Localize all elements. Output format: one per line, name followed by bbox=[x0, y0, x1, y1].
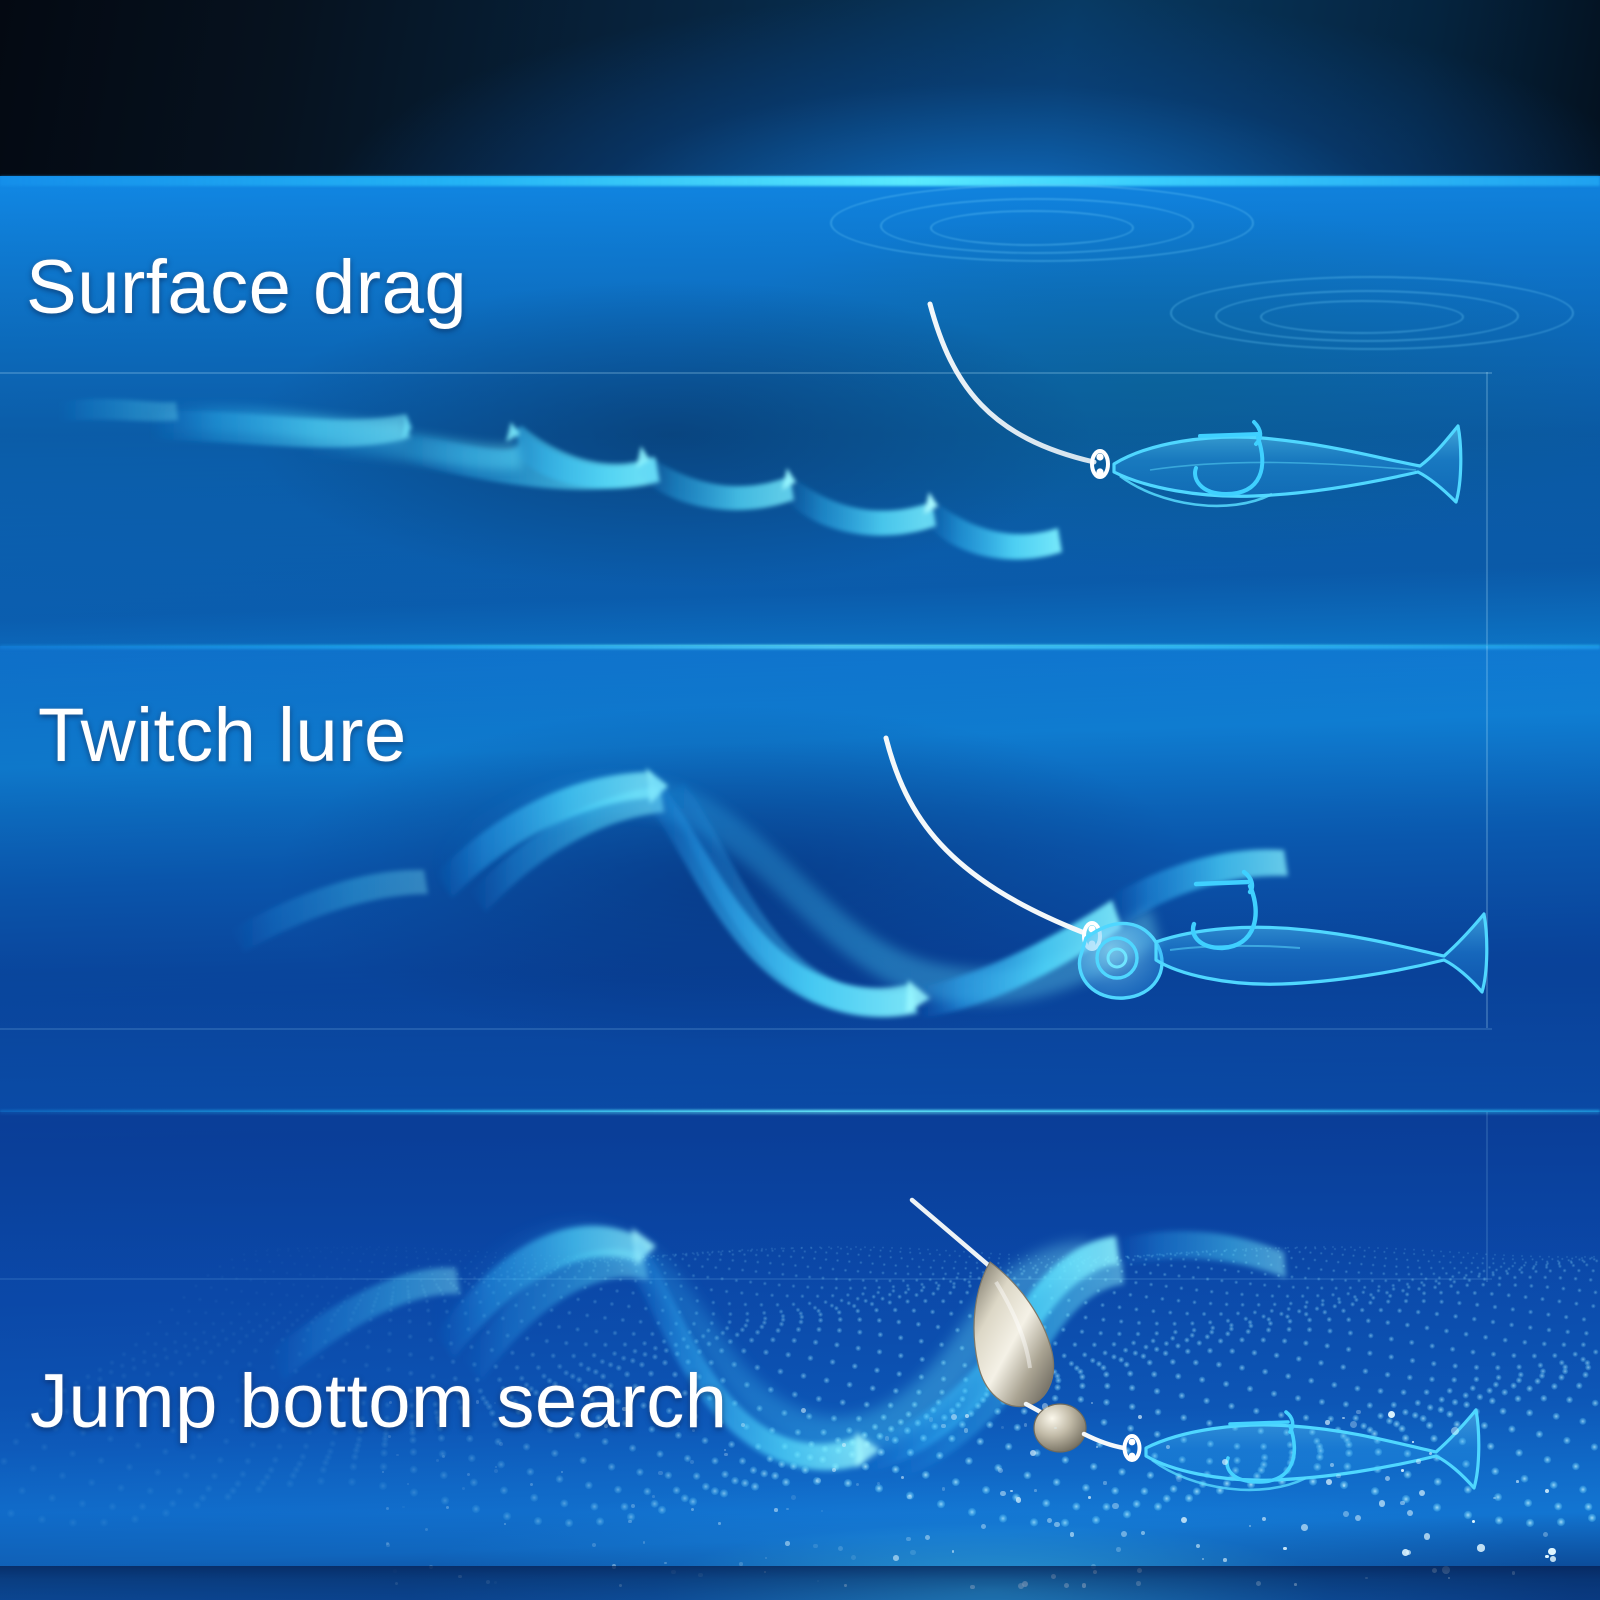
bubble-particle bbox=[842, 1443, 846, 1447]
bubble-particle bbox=[885, 1436, 890, 1441]
bubble-particle bbox=[851, 1555, 856, 1560]
bubble-particle bbox=[1379, 1500, 1385, 1506]
bubble-particle bbox=[718, 1522, 721, 1525]
teardrop-sinker-icon bbox=[974, 1262, 1054, 1407]
bubble-particle bbox=[1070, 1532, 1074, 1536]
bubble-particle bbox=[690, 1460, 694, 1464]
bubble-particle bbox=[724, 1449, 726, 1451]
bubble-particle bbox=[652, 1495, 655, 1498]
fishing-line-icon bbox=[886, 738, 1082, 932]
bubble-particle bbox=[1047, 1518, 1052, 1523]
bubble-particle bbox=[906, 1537, 910, 1541]
bubble-particle bbox=[628, 1520, 632, 1524]
label-twitch-lure: Twitch lure bbox=[38, 692, 407, 779]
bubble-particle bbox=[1112, 1503, 1119, 1510]
bubble-particle bbox=[941, 1424, 946, 1429]
bubble-particle bbox=[821, 1510, 823, 1512]
bubble-particle bbox=[1493, 1497, 1495, 1499]
bubble-particle bbox=[1401, 1469, 1404, 1472]
bubble-particle bbox=[816, 1478, 821, 1483]
bubble-particle bbox=[739, 1562, 743, 1566]
bubble-particle bbox=[1030, 1450, 1036, 1456]
label-jump-bottom-search: Jump bottom search bbox=[30, 1358, 728, 1445]
bubble-particle bbox=[1166, 1445, 1170, 1449]
bubble-particle bbox=[691, 1508, 694, 1511]
bubble-particle bbox=[785, 1541, 790, 1546]
fishing-line-icon bbox=[912, 1200, 994, 1270]
bubble-particle bbox=[1121, 1531, 1127, 1537]
bubble-particle bbox=[1407, 1510, 1413, 1516]
bubble-particle bbox=[1400, 1501, 1404, 1505]
bubble-particle bbox=[856, 1483, 859, 1486]
fishing-technique-infographic: Surface drag Twitch lure Jump bottom sea… bbox=[0, 0, 1600, 1600]
bubble-particle bbox=[1116, 1547, 1121, 1552]
bubble-particle bbox=[1330, 1463, 1334, 1467]
bubble-particle bbox=[1356, 1410, 1360, 1414]
bubble-particle bbox=[1301, 1524, 1308, 1531]
bubble-particle bbox=[1091, 1402, 1093, 1404]
bottom-shadow-band bbox=[0, 1566, 1600, 1600]
bubble-particle bbox=[1543, 1532, 1548, 1537]
bubble-particle bbox=[1477, 1544, 1484, 1551]
bubble-particle bbox=[1343, 1511, 1349, 1517]
bubble-particle bbox=[1024, 1423, 1028, 1427]
label-surface-drag: Surface drag bbox=[26, 244, 467, 331]
bubble-particle bbox=[530, 1483, 533, 1486]
bubble-particle bbox=[1010, 1490, 1013, 1493]
bubble-particle bbox=[1054, 1522, 1060, 1528]
bubble-particle bbox=[774, 1508, 778, 1512]
bubble-particle bbox=[1249, 1525, 1251, 1527]
bubble-particle bbox=[791, 1495, 796, 1500]
bubble-particle bbox=[893, 1555, 899, 1561]
bubble-particle bbox=[1419, 1490, 1425, 1496]
bubble-particle bbox=[425, 1528, 428, 1531]
bubble-particle bbox=[402, 1506, 405, 1509]
bubble-particle bbox=[1355, 1515, 1361, 1521]
bubble-particle bbox=[1034, 1489, 1037, 1492]
bubble-particle bbox=[1042, 1403, 1049, 1410]
bubble-particle bbox=[964, 1428, 969, 1433]
bubble-particle bbox=[386, 1543, 390, 1547]
bubble-particle bbox=[907, 1495, 911, 1499]
bubble-particle bbox=[813, 1544, 818, 1549]
bubble-particle bbox=[832, 1468, 836, 1472]
bubble-particle bbox=[901, 1476, 904, 1479]
bubble-particle bbox=[1342, 1417, 1345, 1420]
bubble-particle bbox=[1088, 1496, 1091, 1499]
bubble-particle bbox=[1000, 1491, 1006, 1497]
bubble-particle bbox=[1516, 1480, 1519, 1483]
soft-shad-lure-icon bbox=[1156, 914, 1487, 992]
jig-head-icon bbox=[1079, 924, 1162, 999]
bubble-particle bbox=[801, 1408, 806, 1413]
bubble-particle bbox=[631, 1504, 635, 1508]
bubble-particle bbox=[1550, 1556, 1556, 1562]
bubble-particle bbox=[952, 1550, 955, 1553]
bubble-particle bbox=[1326, 1479, 1332, 1485]
bubble-particle bbox=[1262, 1517, 1266, 1521]
bubble-particle bbox=[1223, 1558, 1227, 1562]
bubble-particle bbox=[467, 1473, 470, 1476]
sky-band bbox=[0, 0, 1600, 182]
bubble-particle bbox=[664, 1562, 666, 1564]
bubble-particle bbox=[1222, 1459, 1228, 1465]
bubble-particle bbox=[446, 1506, 449, 1509]
bubble-particle bbox=[1416, 1459, 1421, 1464]
bubble-particle bbox=[877, 1482, 880, 1485]
bubble-particle bbox=[494, 1469, 498, 1473]
bubble-particle bbox=[942, 1487, 946, 1491]
fishing-line-icon bbox=[930, 304, 1094, 462]
bubble-particle bbox=[1548, 1548, 1556, 1556]
bubble-particle bbox=[658, 1471, 662, 1475]
bubble-particle bbox=[1325, 1420, 1330, 1425]
bubble-particle bbox=[1103, 1481, 1106, 1484]
bubble-particle bbox=[643, 1541, 645, 1543]
bubble-particle bbox=[1054, 1427, 1056, 1429]
soft-shad-lure-icon bbox=[1114, 426, 1461, 506]
